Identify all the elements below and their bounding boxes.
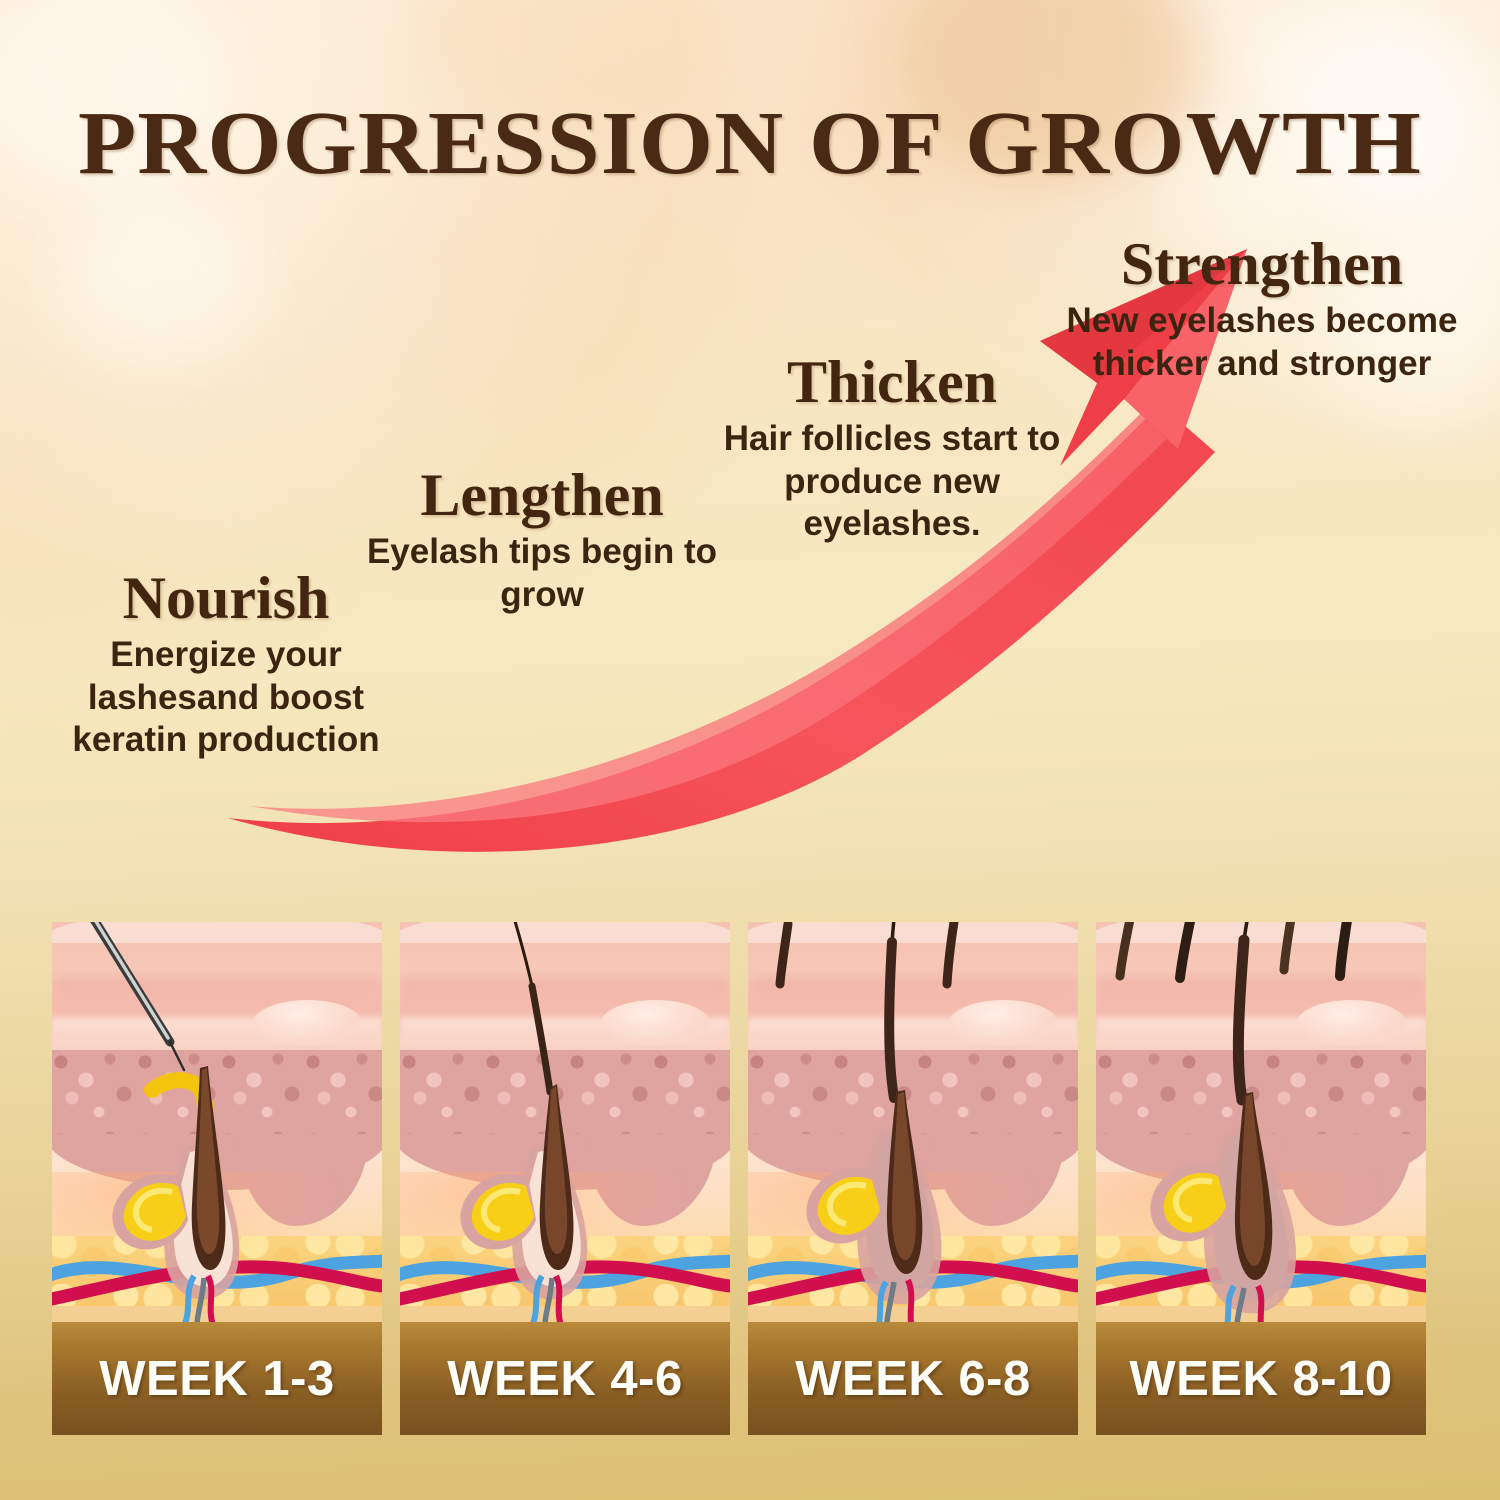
skin-highlight: [1297, 1000, 1406, 1046]
week-label-bar: WEEK 8-10: [1096, 1322, 1426, 1435]
epidermis-surface: [400, 922, 730, 943]
week-panel: WEEK 4-6: [400, 922, 730, 1435]
dermis-granular-layer: [1096, 1050, 1426, 1142]
week-label-bar: WEEK 6-8: [748, 1322, 1078, 1435]
step-heading: Thicken: [712, 352, 1072, 412]
step-heading: Lengthen: [352, 465, 732, 525]
page-title: PROGRESSION OF GROWTH: [0, 92, 1500, 195]
epidermis-surface: [748, 922, 1078, 943]
blood-vessels-icon: [400, 1230, 730, 1316]
skin-cross-section-icon: [748, 922, 1078, 1322]
week-label: WEEK 4-6: [447, 1351, 682, 1407]
week-label: WEEK 6-8: [795, 1351, 1030, 1407]
skin-cross-section-icon: [1096, 922, 1426, 1322]
blood-vessels-icon: [1096, 1230, 1426, 1316]
week-panel: WEEK 8-10: [1096, 922, 1426, 1435]
step-body: Eyelash tips begin to grow: [352, 531, 732, 616]
step-body: Energize your lashesand boost keratin pr…: [36, 634, 416, 762]
dermis-granular-layer: [748, 1050, 1078, 1142]
week-label: WEEK 1-3: [99, 1351, 334, 1407]
blood-vessels-icon: [748, 1230, 1078, 1316]
step-heading: Strengthen: [1062, 234, 1462, 294]
dermis-granular-layer: [400, 1050, 730, 1142]
week-panel: WEEK 6-8: [748, 922, 1078, 1435]
skin-highlight: [601, 1000, 710, 1046]
week-label-bar: WEEK 4-6: [400, 1322, 730, 1435]
blood-vessels-icon: [52, 1230, 382, 1316]
week-label-bar: WEEK 1-3: [52, 1322, 382, 1435]
skin-cross-section-icon: [400, 922, 730, 1322]
step-caption-lengthen: Lengthen Eyelash tips begin to grow: [352, 465, 732, 616]
week-panel: WEEK 1-3: [52, 922, 382, 1435]
step-body: New eyelashes become thicker and stronge…: [1062, 300, 1462, 385]
skin-highlight: [949, 1000, 1058, 1046]
skin-highlight: [253, 1000, 362, 1046]
step-caption-strengthen: Strengthen New eyelashes become thicker …: [1062, 234, 1462, 385]
week-label: WEEK 8-10: [1129, 1351, 1392, 1407]
step-caption-thicken: Thicken Hair follicles start to produce …: [712, 352, 1072, 546]
epidermis-surface: [1096, 922, 1426, 943]
infographic-canvas: PROGRESSION OF GROWTH Nourish Energize y…: [0, 0, 1500, 1500]
epidermis-surface: [52, 922, 382, 943]
skin-cross-section-icon: [52, 922, 382, 1322]
dermis-granular-layer: [52, 1050, 382, 1142]
step-body: Hair follicles start to produce new eyel…: [712, 418, 1072, 546]
